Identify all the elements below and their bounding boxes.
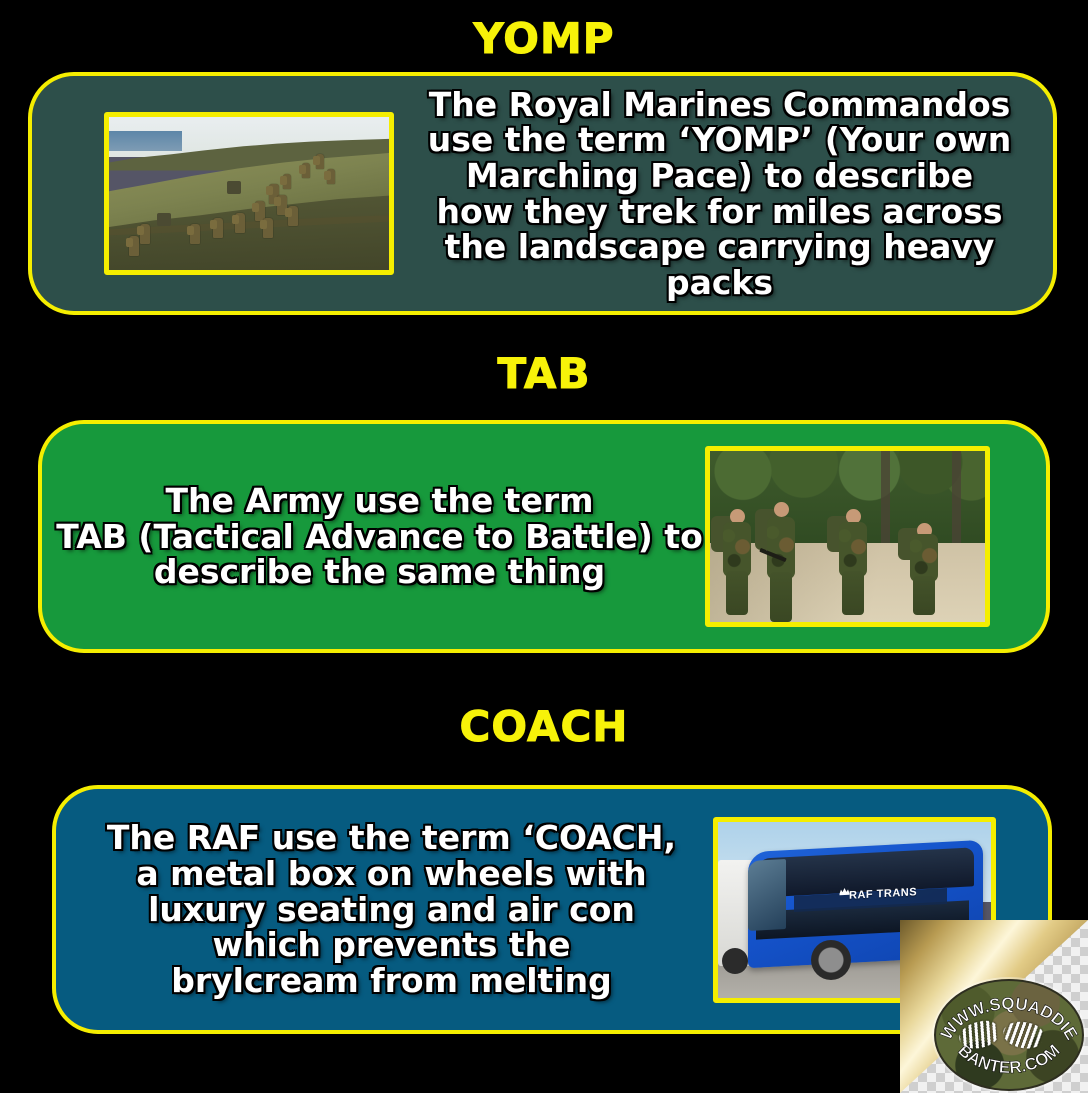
meme-canvas: YOMP [0, 0, 1088, 1093]
soldier [765, 502, 799, 622]
soldier [721, 509, 755, 615]
barrel [227, 181, 241, 194]
marine [140, 224, 150, 244]
panel-yomp: The Royal Marines Commandos use the term… [28, 72, 1057, 315]
tree-trunk [952, 451, 961, 550]
army-soldiers-tabbing-photo [705, 446, 990, 627]
marine [302, 163, 310, 178]
panel-coach-text: The RAF use the term ‘COACH, a metal box… [56, 820, 713, 998]
royal-marines-yomping-photo [104, 112, 394, 275]
squaddie-banter-logo: WWW.SQUADDIE BANTER.COM [934, 979, 1084, 1091]
marine [129, 236, 139, 256]
section-heading-yomp: YOMP [0, 18, 1088, 60]
windscreen [748, 859, 786, 931]
panel-tab: The Army use the term TAB (Tactical Adva… [38, 420, 1050, 653]
marine [288, 206, 298, 226]
tab-photo-art [710, 451, 985, 622]
marine [263, 218, 273, 238]
barrel [157, 213, 171, 226]
panel-tab-text: The Army use the term TAB (Tactical Adva… [42, 483, 705, 590]
marine [316, 154, 324, 169]
marine [190, 224, 200, 244]
section-heading-tab: TAB [0, 353, 1088, 395]
wheel [811, 940, 851, 980]
marine [213, 218, 223, 238]
panel-yomp-text: The Royal Marines Commandos use the term… [394, 87, 1053, 301]
page-curl-watermark: WWW.SQUADDIE BANTER.COM [900, 920, 1088, 1093]
panel-tab-content: The Army use the term TAB (Tactical Adva… [42, 424, 1046, 649]
yomp-photo-art [109, 117, 389, 270]
tree-trunk [881, 451, 890, 550]
marine [327, 169, 335, 184]
marine [235, 213, 245, 233]
panel-yomp-content: The Royal Marines Commandos use the term… [32, 76, 1053, 311]
section-heading-coach: COACH [0, 706, 1088, 748]
marine [283, 174, 291, 189]
water [109, 131, 182, 151]
soldier [908, 523, 942, 615]
soldier [837, 509, 871, 615]
